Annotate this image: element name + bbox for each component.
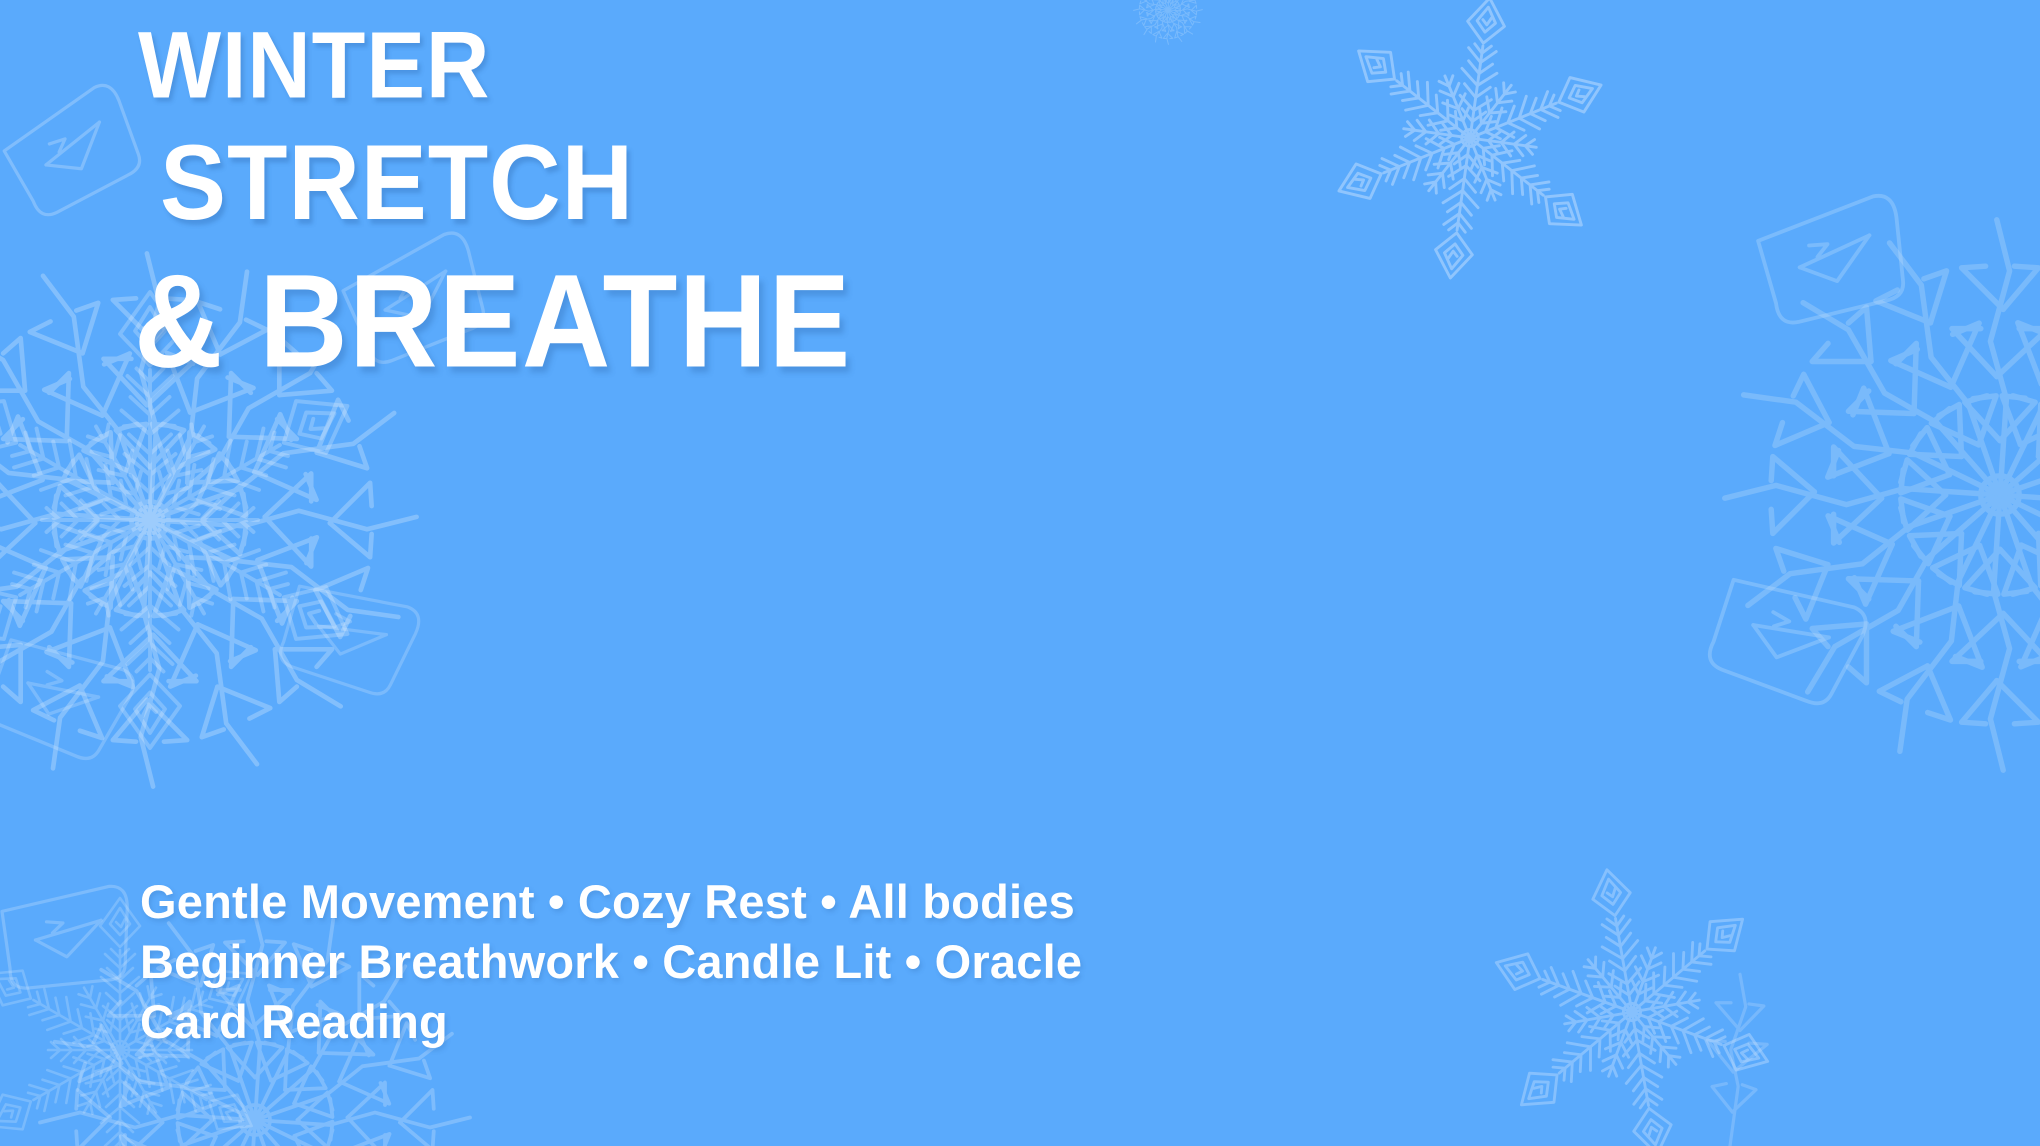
headline-block: WINTER STRETCH & BREATHE: [138, 18, 1838, 387]
headline-line-2: STRETCH: [160, 130, 970, 185]
headline-line-1: WINTER: [138, 18, 868, 62]
headline-line-3: & BREATHE: [134, 256, 1154, 341]
subtitle-block: Gentle Movement • Cozy Rest • All bodies…: [140, 872, 1420, 1052]
subtitle-line-2: Beginner Breathwork • Candle Lit • Oracl…: [140, 932, 1420, 992]
subtitle-line-3: Card Reading: [140, 992, 1420, 1052]
poster-content: WINTER STRETCH & BREATHE Gentle Movement…: [0, 0, 2040, 1146]
poster-canvas: WINTER STRETCH & BREATHE Gentle Movement…: [0, 0, 2040, 1146]
subtitle-line-1: Gentle Movement • Cozy Rest • All bodies: [140, 872, 1420, 932]
